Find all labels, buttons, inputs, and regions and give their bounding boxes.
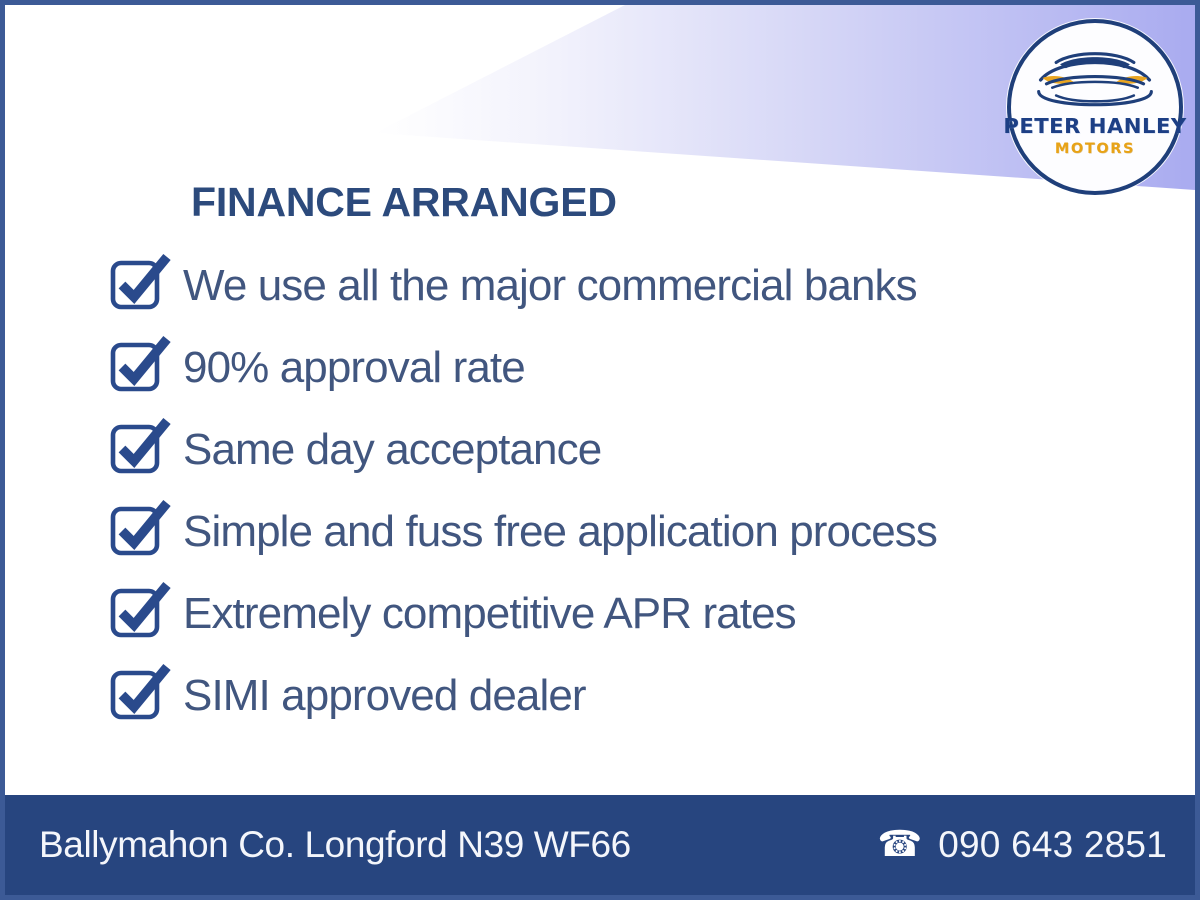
feature-label: 90% approval rate xyxy=(183,346,525,390)
phone-number[interactable]: 090 643 2851 xyxy=(938,824,1167,866)
checkbox-checked-icon xyxy=(109,503,167,561)
list-item: Extremely competitive APR rates xyxy=(109,573,1109,655)
feature-label: SIMI approved dealer xyxy=(183,674,586,718)
telephone-icon: ☎ xyxy=(877,826,922,862)
list-item: 90% approval rate xyxy=(109,327,1109,409)
checkbox-checked-icon xyxy=(109,585,167,643)
list-item: Same day acceptance xyxy=(109,409,1109,491)
logo-wordmark: PETER HANLEY xyxy=(1003,116,1186,137)
feature-list: We use all the major commercial banks 90… xyxy=(109,245,1109,737)
checkbox-checked-icon xyxy=(109,667,167,725)
checkbox-checked-icon xyxy=(109,339,167,397)
company-logo-badge[interactable]: PETER HANLEY MOTORS xyxy=(1007,19,1183,195)
feature-label: Same day acceptance xyxy=(183,428,601,472)
feature-label: Simple and fuss free application process xyxy=(183,510,937,554)
list-item: SIMI approved dealer xyxy=(109,655,1109,737)
advert-canvas: PETER HANLEY MOTORS FINANCE ARRANGED We … xyxy=(0,0,1200,900)
feature-label: We use all the major commercial banks xyxy=(183,264,917,308)
list-item: We use all the major commercial banks xyxy=(109,245,1109,327)
checkbox-checked-icon xyxy=(109,421,167,479)
list-item: Simple and fuss free application process xyxy=(109,491,1109,573)
address-text: Ballymahon Co. Longford N39 WF66 xyxy=(39,824,631,866)
checkbox-checked-icon xyxy=(109,257,167,315)
logo-subtext: MOTORS xyxy=(1055,142,1135,157)
page-title: FINANCE ARRANGED xyxy=(191,179,617,226)
phone-block[interactable]: ☎ 090 643 2851 xyxy=(877,824,1167,866)
footer-bar: Ballymahon Co. Longford N39 WF66 ☎ 090 6… xyxy=(5,795,1200,895)
car-front-icon xyxy=(1027,41,1163,115)
feature-label: Extremely competitive APR rates xyxy=(183,592,796,636)
